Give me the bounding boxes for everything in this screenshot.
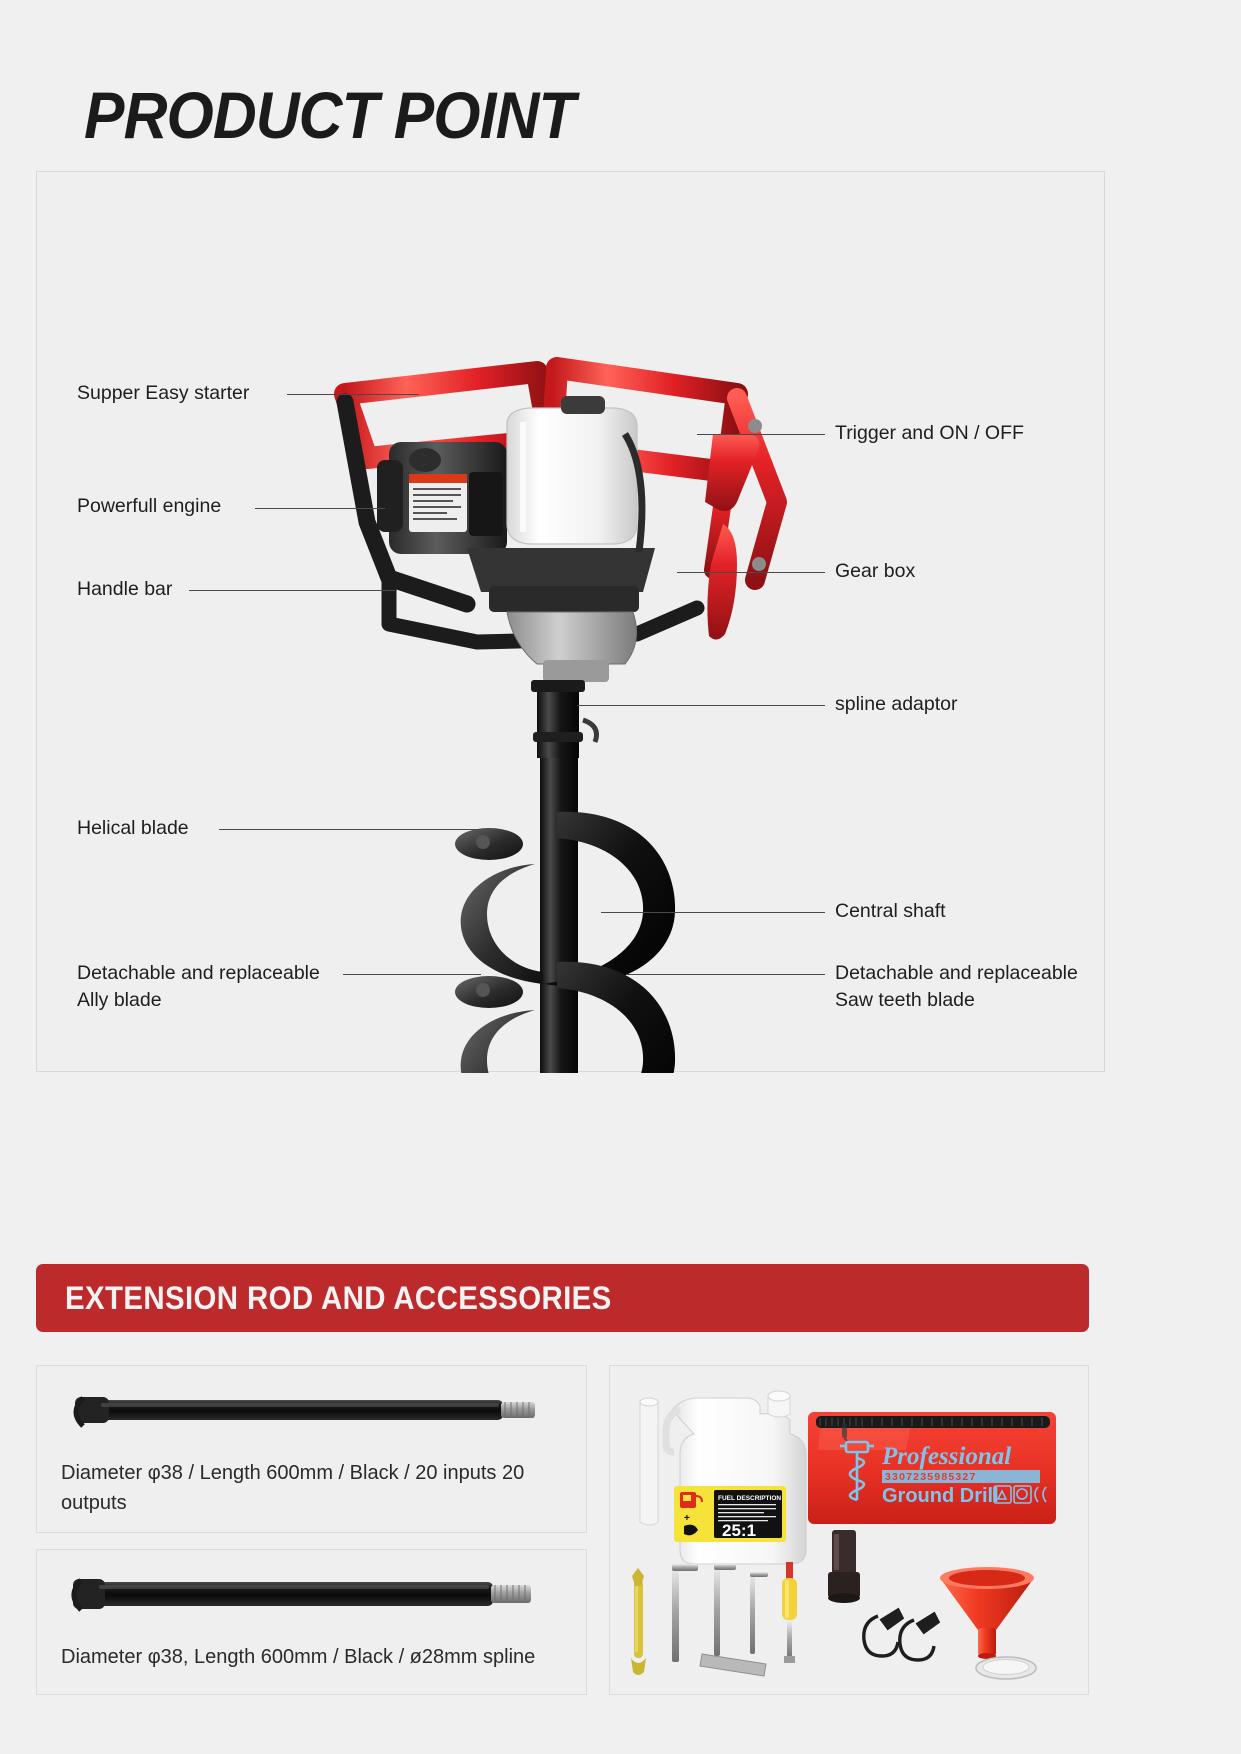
hex-key-small <box>750 1572 768 1654</box>
spark-plug-socket <box>828 1530 860 1603</box>
callout-label-supper-easy-starter: Supper Easy starter <box>77 380 249 407</box>
leader-line-helical-blade <box>219 829 481 830</box>
spring-clips <box>864 1610 938 1660</box>
callout-label-central-shaft: Central shaft <box>835 898 946 925</box>
callout-label-gear-box: Gear box <box>835 558 915 585</box>
callout-saw-teeth-line2: Saw teeth blade <box>835 989 975 1011</box>
callout-label-spline-adaptor: spline adaptor <box>835 691 958 718</box>
leader-line-saw-teeth-blade <box>627 974 825 975</box>
leader-line-gear-box <box>677 572 825 573</box>
extension-rod-image-1 <box>61 1382 562 1444</box>
fuel-plus-sign: + <box>684 1513 690 1524</box>
earth-auger-illustration <box>37 172 1106 1073</box>
screwdriver <box>782 1562 797 1663</box>
svg-text:3307235985327: 3307235985327 <box>885 1471 977 1483</box>
fuel-label-heading: FUEL DESCRIPTION <box>718 1495 781 1502</box>
mounting-bracket <box>700 1654 766 1676</box>
product-diagram-panel: Supper Easy starter Powerfull engine Han… <box>36 171 1105 1072</box>
callout-ally-blade-line1: Detachable and replaceable <box>77 962 320 984</box>
hex-key-large <box>672 1564 698 1662</box>
leader-line-supper-easy-starter <box>287 394 419 395</box>
fuel-mixing-bottle: FUEL DESCRIPTION 25:1 + <box>640 1391 806 1564</box>
hex-key-medium <box>714 1564 736 1656</box>
extension-rod-card-1: Diameter φ38 / Length 600mm / Black / 20… <box>36 1365 587 1533</box>
bottom-section: Diameter φ38 / Length 600mm / Black / 20… <box>36 1365 1089 1695</box>
leader-line-powerfull-engine <box>255 508 385 509</box>
round-gasket <box>976 1657 1036 1679</box>
pouch-brand-script: Professional <box>881 1443 1011 1470</box>
callout-label-trigger-on-off: Trigger and ON / OFF <box>835 420 1024 447</box>
extension-rod-image-2 <box>61 1566 562 1628</box>
callout-label-powerfull-engine: Powerfull engine <box>77 493 221 520</box>
red-funnel <box>940 1567 1034 1659</box>
leader-line-ally-blade <box>343 974 481 975</box>
page-title: PRODUCT POINT <box>84 82 575 148</box>
extension-rod-card-2: Diameter φ38, Length 600mm / Black / ø28… <box>36 1549 587 1695</box>
callout-label-ally-blade: Detachable and replaceable Ally blade <box>77 960 377 1014</box>
callout-label-handle-bar: Handle bar <box>77 576 172 603</box>
leader-line-spline-adaptor <box>577 705 825 706</box>
extension-rod-banner: EXTENSION ROD AND ACCESSORIES <box>36 1264 1089 1332</box>
callout-label-helical-blade: Helical blade <box>77 815 189 842</box>
extension-rod-column: Diameter φ38 / Length 600mm / Black / 20… <box>36 1365 587 1695</box>
extension-rod-caption-1: Diameter φ38 / Length 600mm / Black / 20… <box>61 1458 562 1518</box>
leader-line-handle-bar <box>189 590 395 591</box>
leader-line-central-shaft <box>601 912 825 913</box>
banner-title: EXTENSION ROD AND ACCESSORIES <box>65 1280 612 1317</box>
rod-caption-1-line1: Diameter φ38 / Length 600mm / Black / 20… <box>61 1462 496 1484</box>
callout-saw-teeth-line1: Detachable and replaceable <box>835 962 1078 984</box>
callout-ally-blade-line2: Ally blade <box>77 989 162 1011</box>
rod-caption-2-line2: spline <box>483 1646 535 1668</box>
tool-pouch: Professional 3307235985327 Ground Drill <box>808 1412 1056 1524</box>
leader-line-trigger-on-off <box>697 434 825 435</box>
extension-rod-caption-2: Diameter φ38, Length 600mm / Black / ø28… <box>61 1642 562 1672</box>
open-end-wrench <box>631 1568 646 1675</box>
rod-caption-2-line1: Diameter φ38, Length 600mm / Black / ø28… <box>61 1646 477 1668</box>
fuel-mix-ratio: 25:1 <box>722 1521 756 1540</box>
accessories-illustration: FUEL DESCRIPTION 25:1 + <box>610 1366 1089 1695</box>
pouch-digits: 3307235985327 <box>882 1470 1040 1483</box>
callout-label-saw-teeth-blade: Detachable and replaceable Saw teeth bla… <box>835 960 1105 1014</box>
accessories-card: FUEL DESCRIPTION 25:1 + <box>609 1365 1089 1695</box>
pouch-brand-line2: Ground Drill <box>882 1485 999 1507</box>
